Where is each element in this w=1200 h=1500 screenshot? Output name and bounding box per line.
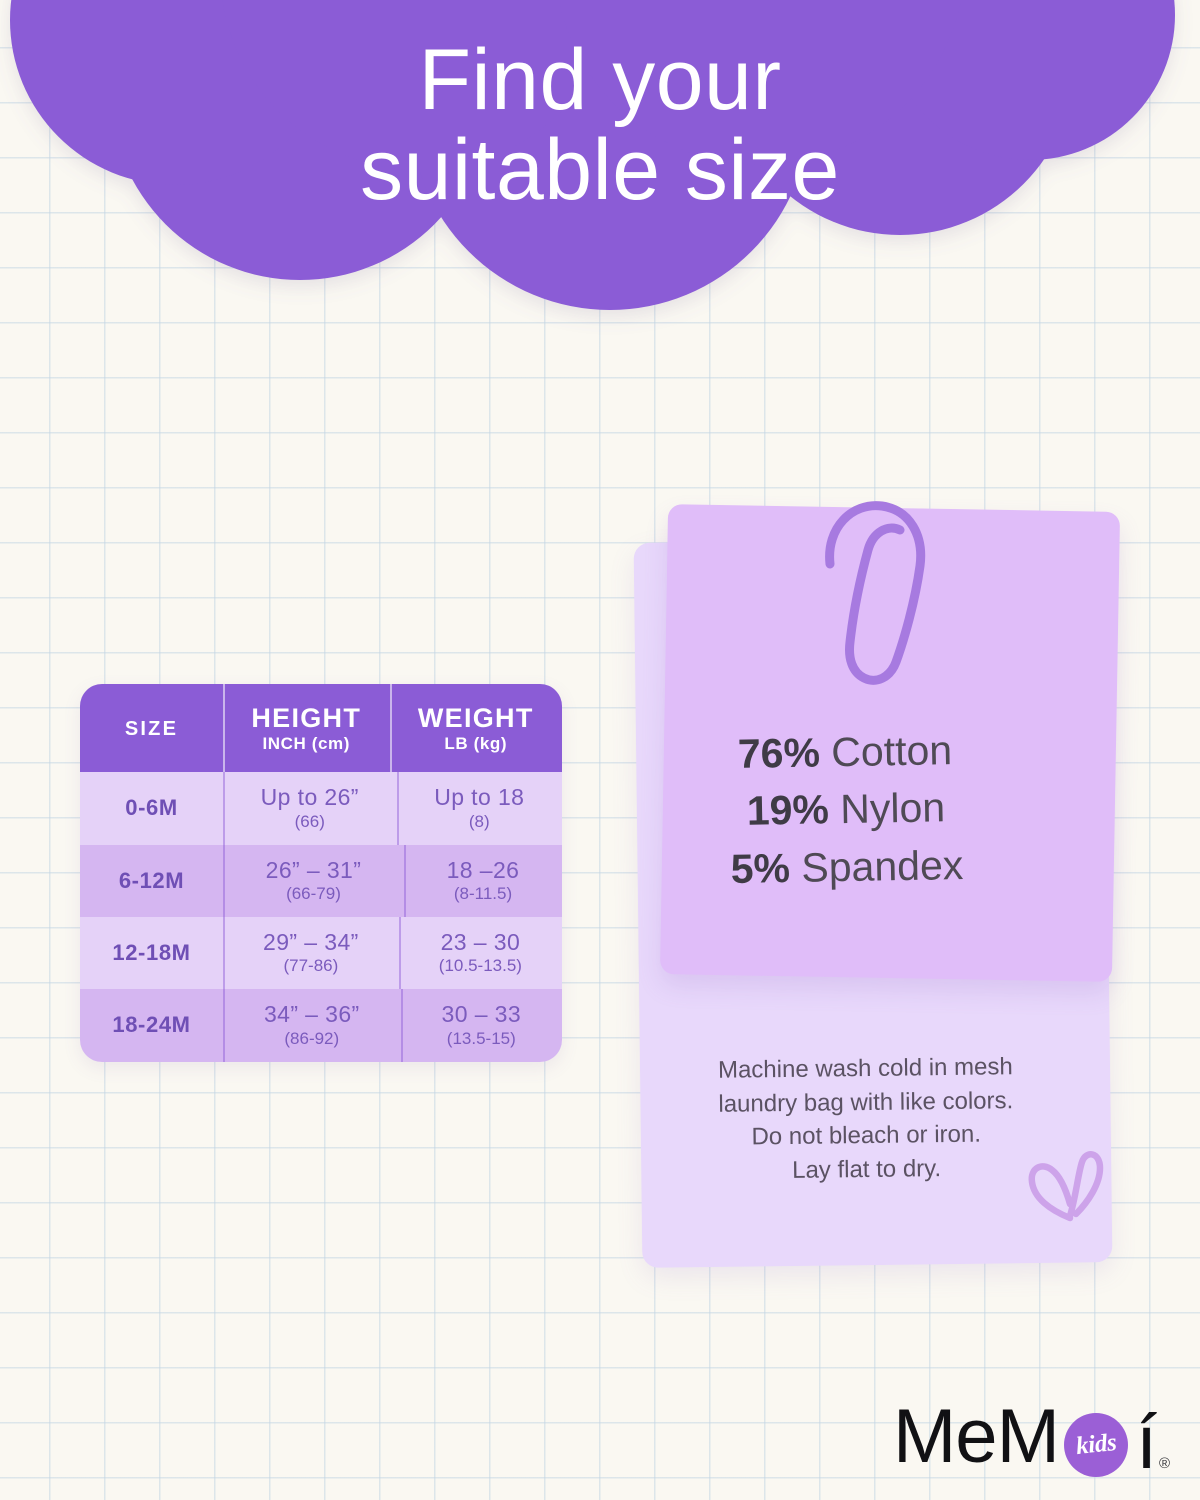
table-row: 12-18M 29” – 34” (77-86) 23 – 30 (10.5-1…	[80, 917, 562, 989]
title-line-2: suitable size	[0, 128, 1200, 212]
fabric-percent: 5%	[730, 845, 790, 892]
fabric-material: Spandex	[801, 842, 964, 891]
table-row: 0-6M Up to 26” (66) Up to 18 (8)	[80, 772, 562, 844]
care-line: Lay flat to dry.	[650, 1150, 1082, 1189]
fabric-line: 19% Nylon	[620, 777, 1073, 842]
title-line-1: Find your	[0, 38, 1200, 122]
cell-height: Up to 26” (66)	[223, 772, 397, 844]
fabric-material: Nylon	[840, 785, 946, 833]
size-chart-table: SIZE HEIGHT INCH (cm) WEIGHT LB (kg) 0-6…	[80, 684, 562, 1062]
logo-wordmark: MeM	[893, 1393, 1059, 1481]
brand-logo: MeM kids í ®	[893, 1393, 1173, 1489]
header-cell-size: SIZE	[80, 684, 223, 772]
table-header-row: SIZE HEIGHT INCH (cm) WEIGHT LB (kg)	[80, 684, 562, 772]
fabric-percent: 19%	[746, 787, 829, 834]
fabric-line: 5% Spandex	[621, 835, 1074, 900]
table-row: 18-24M 34” – 36” (86-92) 30 – 33 (13.5-1…	[80, 989, 562, 1061]
fabric-percent: 76%	[737, 729, 820, 776]
fabric-composition-text: 76% Cotton 19% Nylon 5% Spandex	[619, 720, 1074, 900]
cell-size: 18-24M	[80, 989, 223, 1061]
kids-badge-icon: kids	[1064, 1413, 1128, 1477]
cell-size: 6-12M	[80, 845, 223, 917]
header-cell-weight: WEIGHT LB (kg)	[390, 684, 562, 772]
logo-i-char: í	[1136, 1399, 1157, 1487]
header-cell-height: HEIGHT INCH (cm)	[223, 684, 390, 772]
care-line: Do not bleach or iron.	[650, 1117, 1082, 1156]
cell-height: 26” – 31” (66-79)	[223, 845, 404, 917]
notes-group: 76% Cotton 19% Nylon 5% Spandex Machine …	[620, 492, 1140, 1282]
cell-height: 29” – 34” (77-86)	[223, 917, 399, 989]
fabric-line: 76% Cotton	[619, 720, 1072, 785]
care-line: Machine wash cold in mesh	[649, 1049, 1081, 1088]
registered-trademark-icon: ®	[1159, 1455, 1170, 1472]
paperclip-icon	[800, 480, 940, 690]
care-instructions-text: Machine wash cold in mesh laundry bag wi…	[649, 1049, 1083, 1189]
cell-size: 12-18M	[80, 917, 223, 989]
kids-badge-label: kids	[1074, 1429, 1117, 1461]
cell-weight: Up to 18 (8)	[397, 772, 562, 844]
cell-height: 34” – 36” (86-92)	[223, 989, 401, 1061]
fabric-material: Cotton	[831, 727, 953, 775]
page-title: Find your suitable size	[0, 38, 1200, 213]
cell-size: 0-6M	[80, 772, 223, 844]
care-line: laundry bag with like colors.	[650, 1083, 1082, 1122]
cell-weight: 18 –26 (8-11.5)	[404, 845, 562, 917]
cell-weight: 30 – 33 (13.5-15)	[401, 989, 562, 1061]
heart-doodle-icon	[1020, 1142, 1116, 1238]
table-row: 6-12M 26” – 31” (66-79) 18 –26 (8-11.5)	[80, 845, 562, 917]
cell-weight: 23 – 30 (10.5-13.5)	[399, 917, 562, 989]
